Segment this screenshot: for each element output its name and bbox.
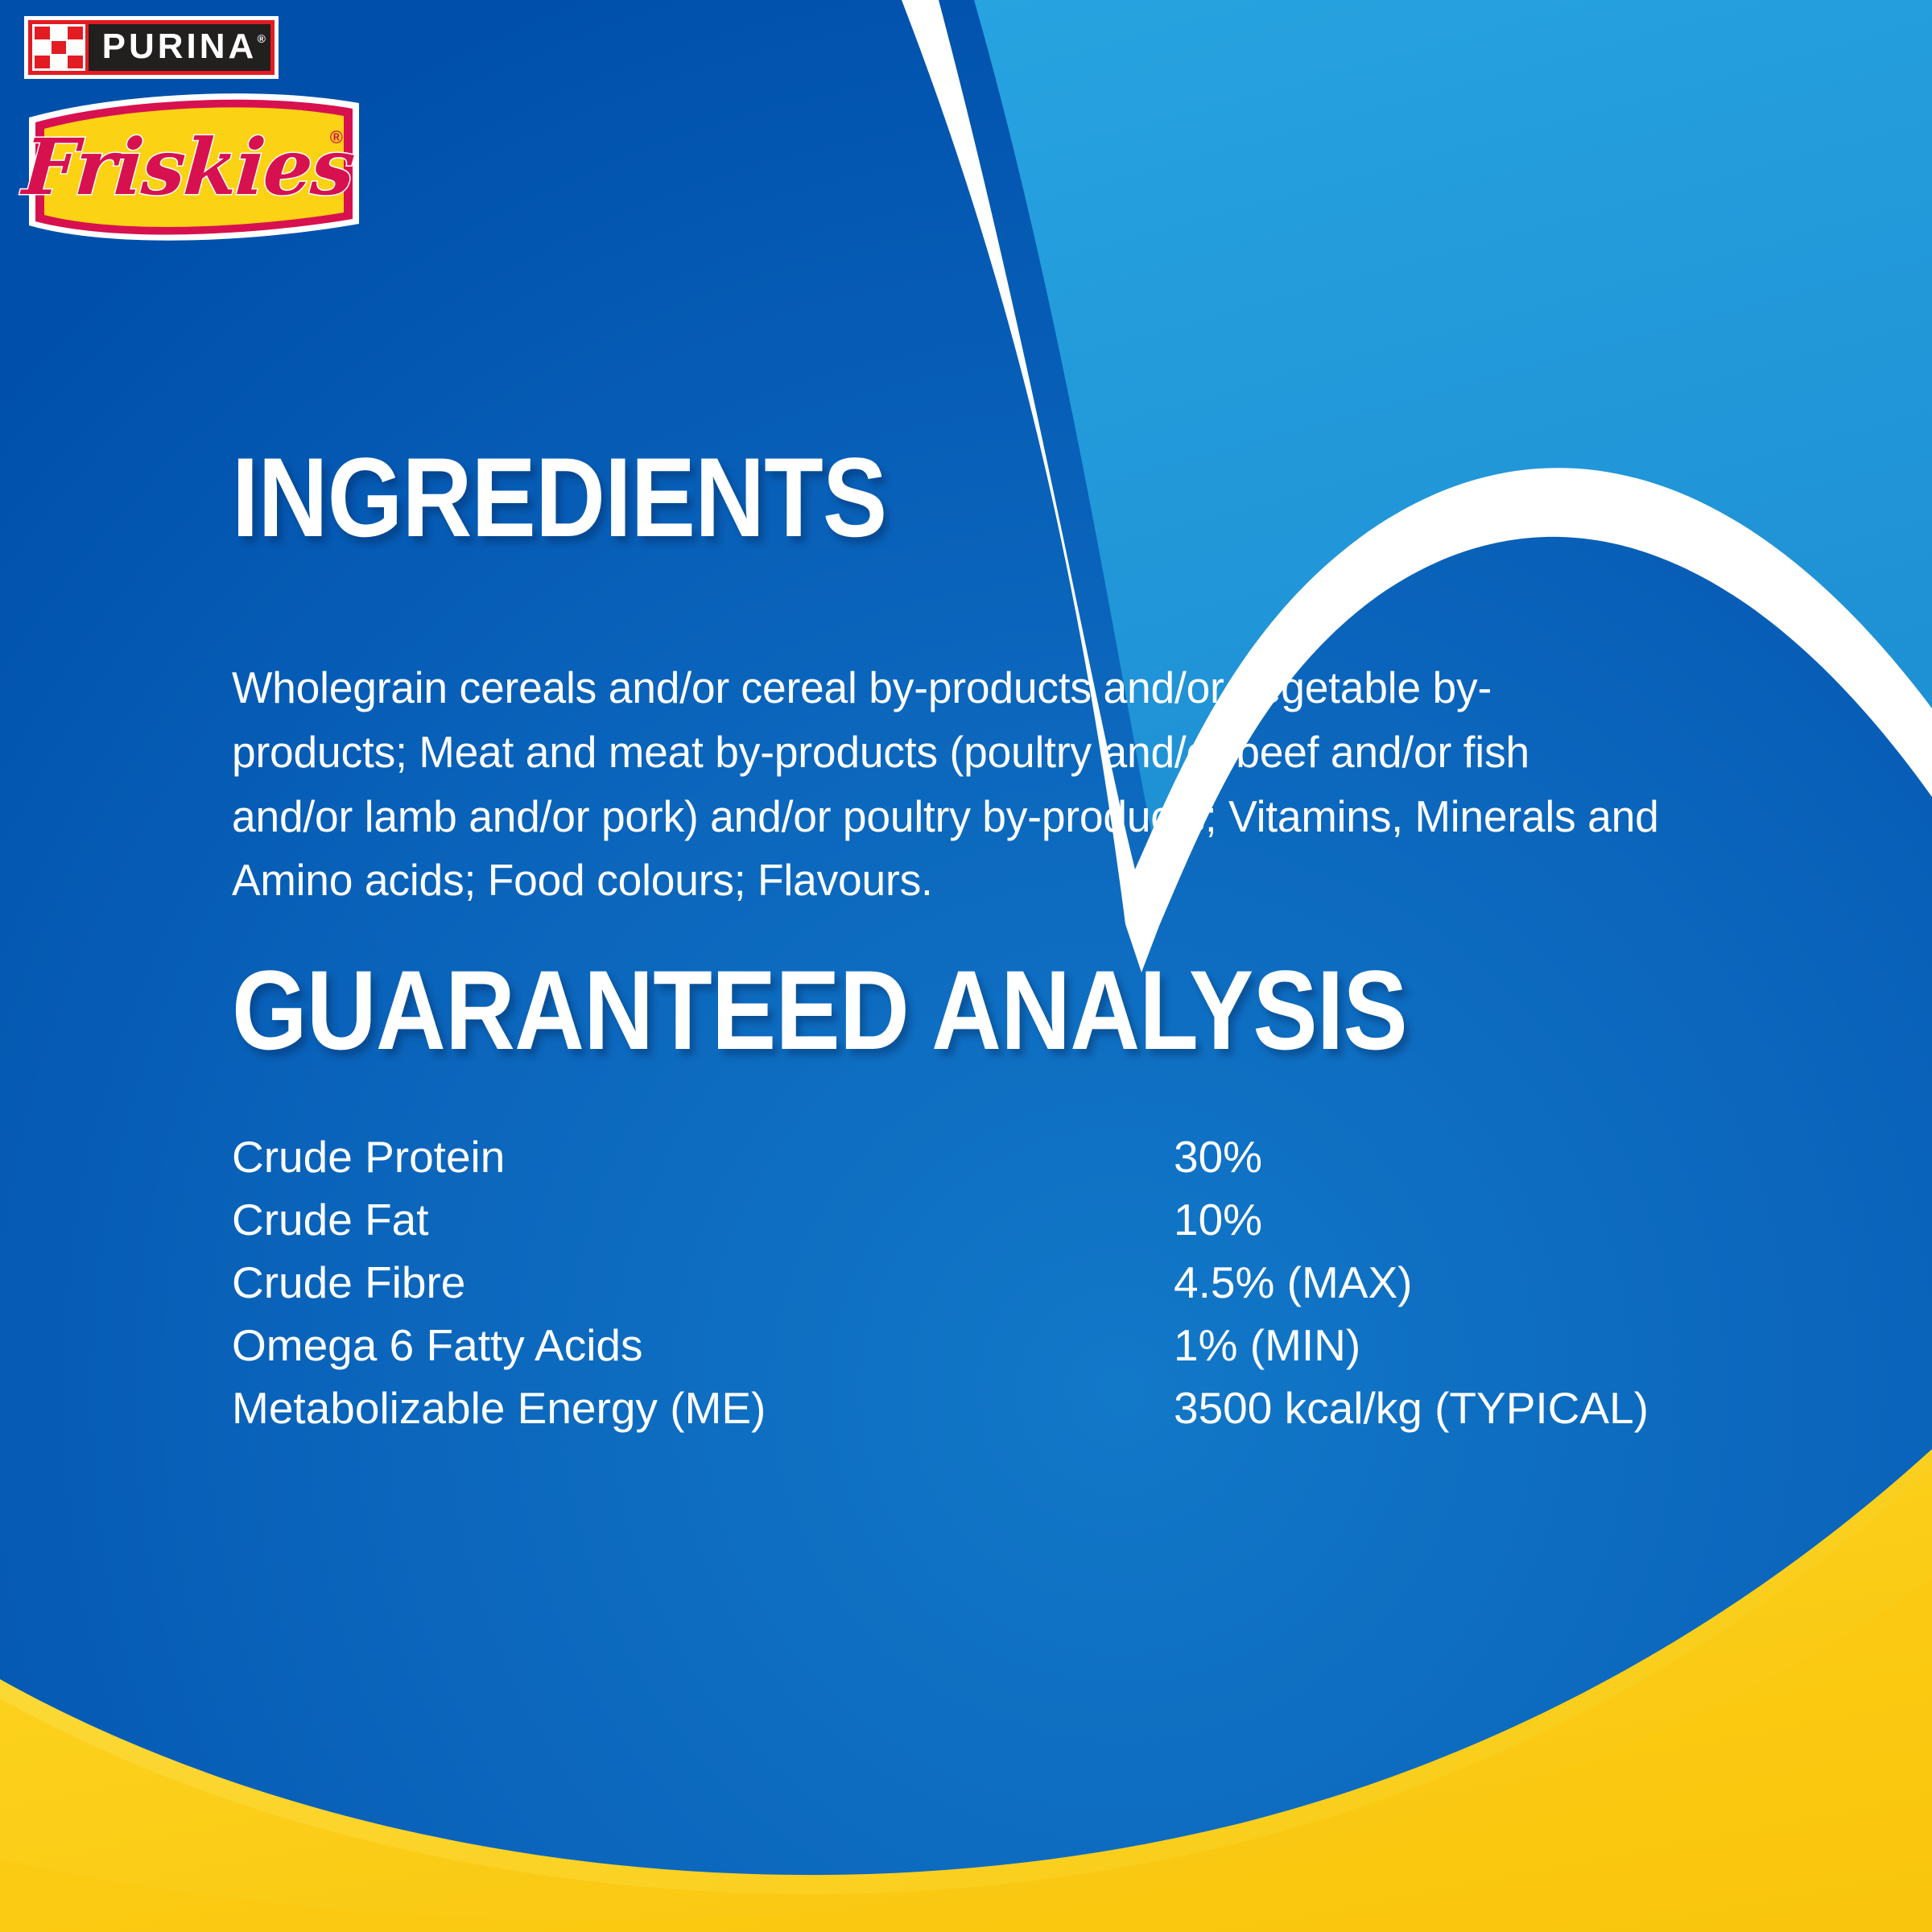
brand-logo-lockup: PURINA ® Friskies ® — [18, 16, 372, 258]
ingredients-body-text: Wholegrain cereals and/or cereal by-prod… — [232, 656, 1661, 913]
analysis-nutrient-label: Omega 6 Fatty Acids — [232, 1314, 1174, 1377]
analysis-nutrient-label: Crude Fat — [232, 1188, 1174, 1251]
friskies-banner-shape — [18, 82, 372, 258]
analysis-nutrient-value: 3500 kcal/kg (TYPICAL) — [1174, 1377, 1761, 1439]
analysis-row: Metabolizable Energy (ME)3500 kcal/kg (T… — [232, 1377, 1761, 1439]
analysis-nutrient-value: 30% — [1174, 1125, 1761, 1188]
purina-registered-mark-icon: ® — [258, 32, 266, 45]
analysis-nutrient-label: Crude Protein — [232, 1125, 1174, 1188]
analysis-row: Crude Fat10% — [232, 1188, 1761, 1251]
analysis-nutrient-label: Crude Fibre — [232, 1251, 1174, 1314]
analysis-row: Omega 6 Fatty Acids1% (MIN) — [232, 1314, 1761, 1377]
analysis-nutrient-value: 10% — [1174, 1188, 1761, 1251]
analysis-nutrient-value: 4.5% (MAX) — [1174, 1251, 1761, 1314]
analysis-row: Crude Fibre4.5% (MAX) — [232, 1251, 1761, 1314]
guaranteed-analysis-heading: GUARANTEED ANALYSIS — [232, 954, 1407, 1067]
guaranteed-analysis-table: Crude Protein30%Crude Fat10%Crude Fibre4… — [232, 1125, 1761, 1439]
purina-checkerboard-icon — [32, 24, 85, 71]
purina-logo: PURINA ® — [24, 16, 279, 79]
analysis-nutrient-label: Metabolizable Energy (ME) — [232, 1377, 1174, 1439]
purina-wordmark: PURINA — [102, 29, 258, 64]
analysis-row: Crude Protein30% — [232, 1125, 1761, 1188]
friskies-logo: Friskies ® — [18, 82, 372, 258]
purina-wordmark-bar: PURINA ® — [89, 24, 270, 71]
ingredients-heading: INGREDIENTS — [232, 441, 886, 554]
product-label-panel: PURINA ® Friskies ® INGREDIENTS Wholegra… — [0, 0, 1932, 1932]
analysis-nutrient-value: 1% (MIN) — [1174, 1314, 1761, 1377]
friskies-registered-mark-icon: ® — [330, 127, 343, 148]
